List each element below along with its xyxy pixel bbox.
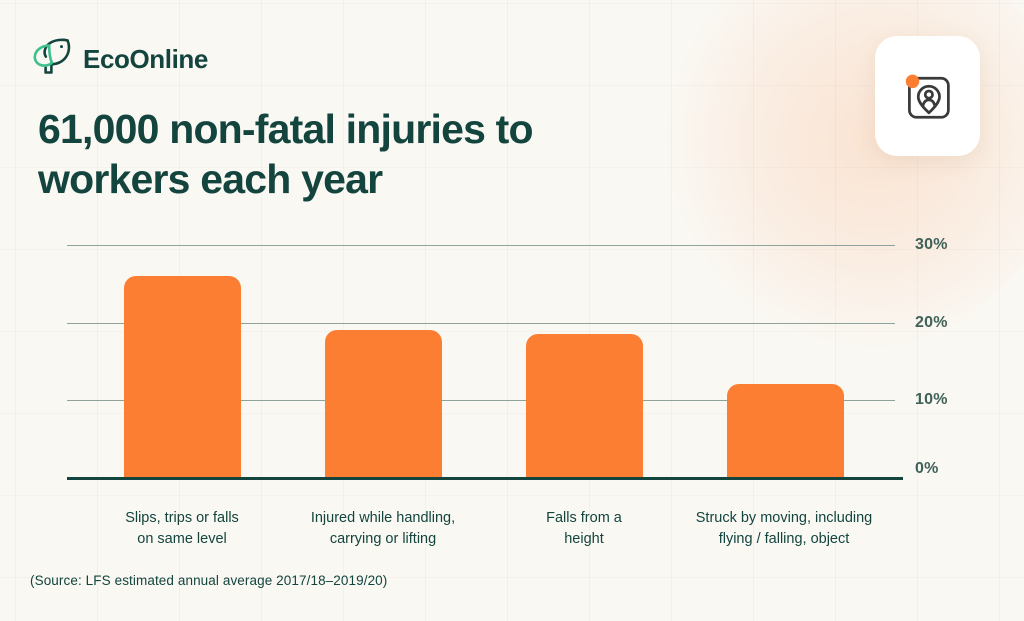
bar-chart: 30% 20% 10% 0% Slips, trips or falls on … <box>0 0 1024 621</box>
bar-injured-handling <box>325 330 442 477</box>
x-axis-label-0: Slips, trips or falls on same level <box>92 508 272 550</box>
bar-slips-trips-falls <box>124 276 241 477</box>
brand-name: EcoOnline <box>83 46 208 72</box>
y-axis-tick-30: 30% <box>915 236 948 254</box>
orange-dot-icon <box>905 75 918 88</box>
leaf-bird-icon <box>30 36 74 82</box>
x-axis-label-3: Struck by moving, including flying / fal… <box>672 508 896 550</box>
x-axis-label-2: Falls from a height <box>494 508 674 550</box>
headline-line-2: workers each year <box>38 154 638 204</box>
page-title: 61,000 non-fatal injuries to workers eac… <box>38 104 638 204</box>
y-axis-tick-20: 20% <box>915 314 948 332</box>
person-map-pin-in-frame-icon <box>897 65 959 127</box>
chart-bars <box>67 245 903 477</box>
infographic-canvas: EcoOnline 61,000 non-fatal injuries to w… <box>0 0 1024 621</box>
headline-line-1: 61,000 non-fatal injuries to <box>38 104 638 154</box>
chart-baseline-axis <box>67 477 903 480</box>
bar-struck-by-moving <box>727 384 844 477</box>
gridline-20 <box>67 323 895 324</box>
background-grid <box>0 0 1024 621</box>
gridline-10 <box>67 400 895 401</box>
y-axis-tick-0: 0% <box>915 460 939 478</box>
gridline-30 <box>67 245 895 246</box>
brand-logo: EcoOnline <box>30 36 208 82</box>
source-note: (Source: LFS estimated annual average 20… <box>30 573 387 588</box>
x-axis-label-1: Injured while handling, carrying or lift… <box>283 508 483 550</box>
bar-falls-from-height <box>526 334 643 477</box>
chart-gridlines <box>67 245 895 478</box>
y-axis-tick-10: 10% <box>915 391 948 409</box>
badge-card <box>875 36 980 156</box>
